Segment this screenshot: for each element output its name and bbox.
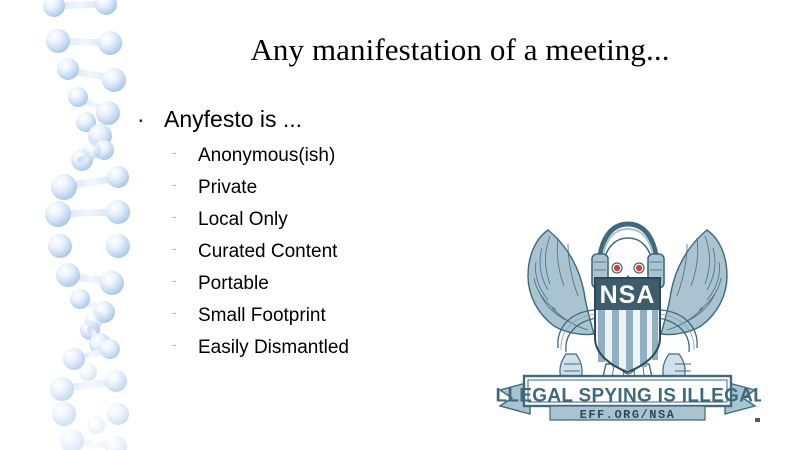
shield-label: NSA: [600, 281, 656, 309]
list-item-label: Small Footprint: [198, 305, 326, 326]
bullet-dot-icon: ·: [137, 104, 145, 134]
eff-nsa-eagle-svg: NSA ILLEGAL SPYING IS ILLEGAL EFF.ORG/NS…: [494, 214, 761, 422]
list-item: - Local Only: [132, 204, 552, 236]
bullet-dash-icon: -: [172, 140, 177, 164]
list-item-label: Anonymous(ish): [198, 145, 335, 166]
dna-helix-svg: [0, 0, 150, 450]
eff-nsa-eagle-image: NSA ILLEGAL SPYING IS ILLEGAL EFF.ORG/NS…: [494, 214, 761, 422]
list-item-label: Easily Dismantled: [198, 337, 349, 358]
list-item: - Anonymous(ish): [132, 140, 552, 172]
list-item-label: Curated Content: [198, 241, 337, 262]
nsa-shield: NSA: [595, 278, 660, 372]
bullet-dash-icon: -: [172, 332, 177, 356]
list-item: - Curated Content: [132, 236, 552, 268]
list-item: - Small Footprint: [132, 300, 552, 332]
list-item: - Easily Dismantled: [132, 332, 552, 364]
banner-text: ILLEGAL SPYING IS ILLEGAL: [494, 386, 761, 407]
banner-subtext: EFF.ORG/NSA: [580, 408, 676, 422]
list-item-label: Portable: [198, 273, 269, 294]
list-item-label: Anyfesto is ...: [164, 106, 302, 132]
dna-helix-decoration: [0, 0, 150, 450]
bullet-dash-icon: -: [172, 268, 177, 292]
list-item-label: Private: [198, 177, 257, 198]
bullet-dash-icon: -: [172, 172, 177, 196]
list-item-label: Local Only: [198, 209, 288, 230]
bullet-dash-icon: -: [172, 204, 177, 228]
stray-artifact-mark: [755, 418, 760, 422]
slide-canvas: Any manifestation of a meeting... · Anyf…: [0, 0, 800, 450]
list-item: - Private: [132, 172, 552, 204]
list-item: - Portable: [132, 268, 552, 300]
bullet-dash-icon: -: [172, 236, 177, 260]
bullet-list: · Anyfesto is ... - Anonymous(ish) - Pri…: [132, 104, 552, 364]
list-item: · Anyfesto is ...: [132, 104, 552, 134]
bullet-dash-icon: -: [172, 300, 177, 324]
page-title: Any manifestation of a meeting...: [140, 32, 780, 68]
